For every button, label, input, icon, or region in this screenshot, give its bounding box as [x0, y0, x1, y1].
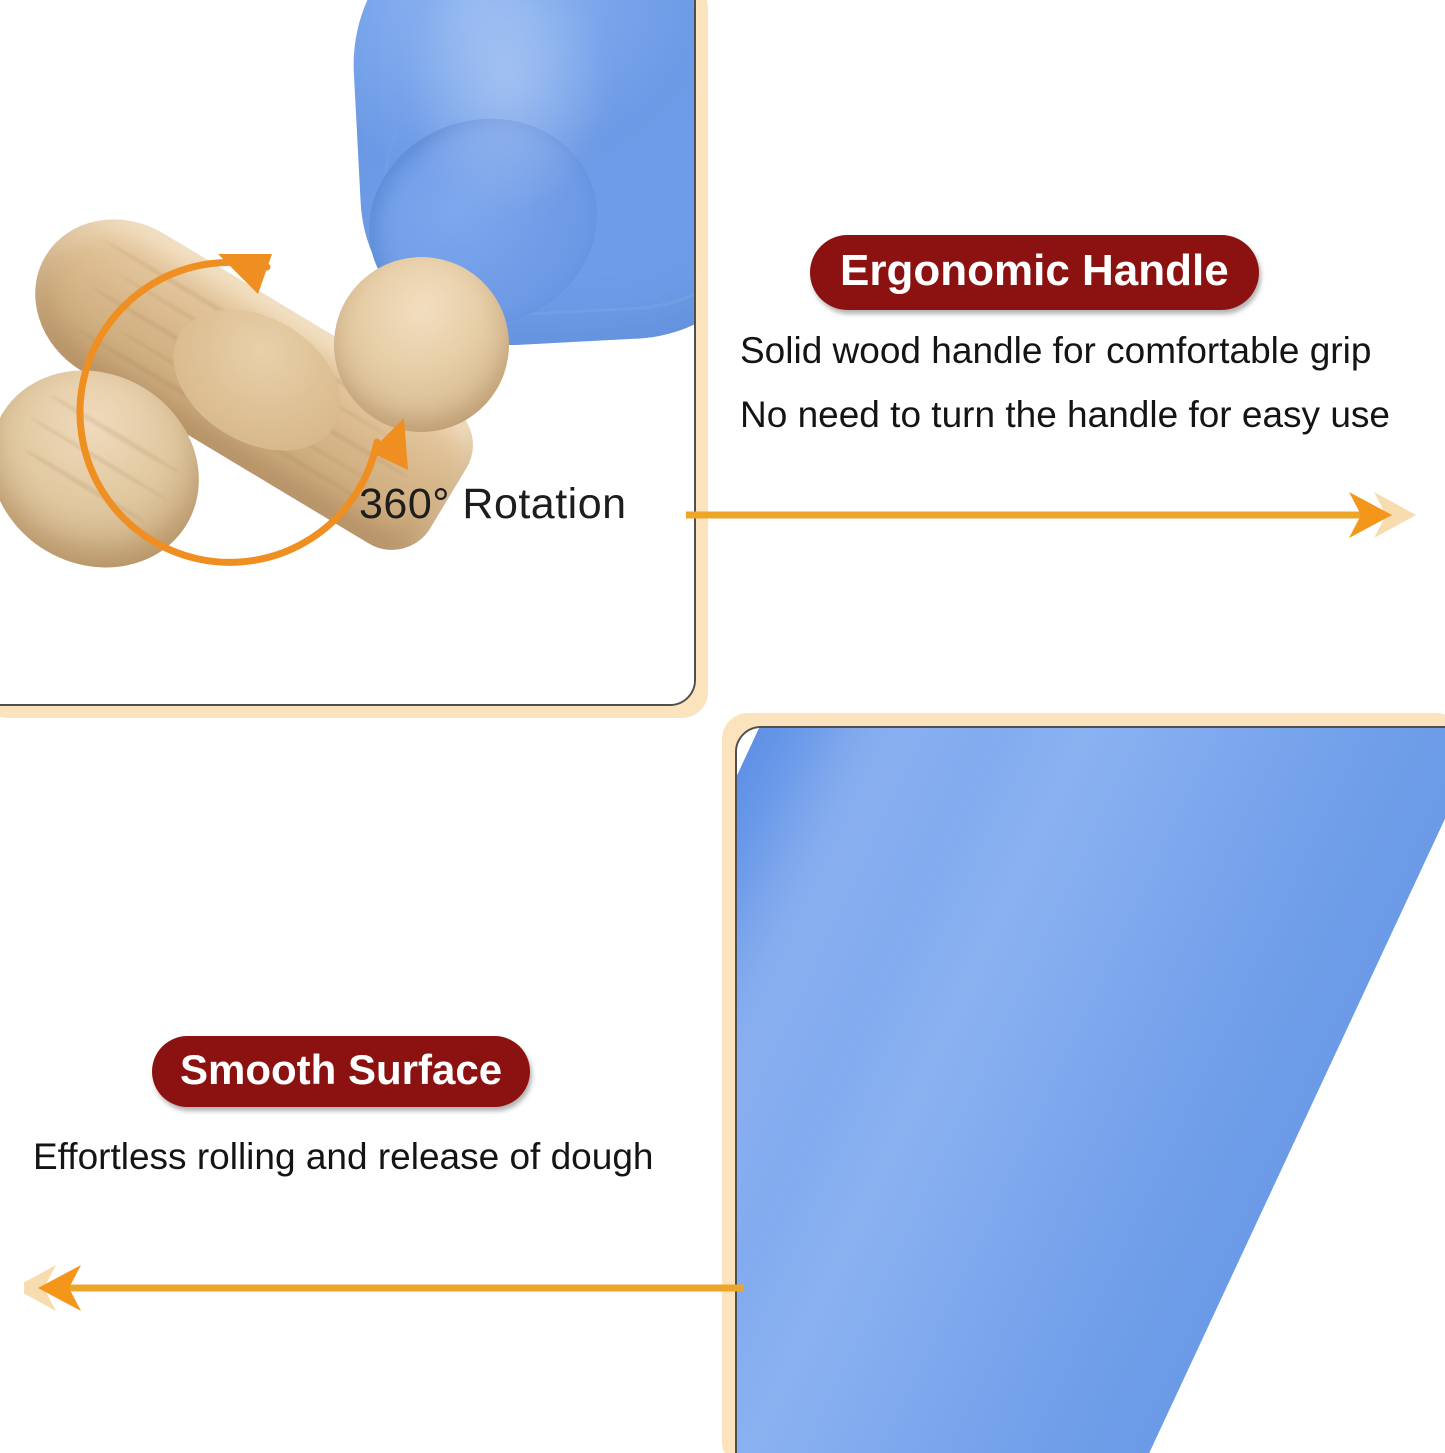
connector-arrow-right-icon [686, 480, 1416, 550]
infographic-canvas: 360° Rotation Ergonomic Handle Solid woo… [0, 0, 1445, 1453]
cylinder-sheen [737, 728, 1106, 1453]
ergonomic-handle-line-1: Solid wood handle for comfortable grip [740, 330, 1371, 372]
badge-smooth-surface: Smooth Surface [152, 1036, 530, 1107]
connector-arrow-left-icon [24, 1253, 744, 1323]
silicone-surface-photo [737, 728, 1445, 1453]
badge-ergonomic-handle: Ergonomic Handle [810, 235, 1259, 310]
wooden-handle [0, 122, 542, 622]
silicone-cylinder [737, 728, 1445, 1453]
rotation-label: 360° Rotation [359, 480, 627, 529]
ergonomic-handle-line-2: No need to turn the handle for easy use [740, 394, 1390, 436]
smooth-surface-photo-panel [735, 726, 1445, 1453]
ergonomic-handle-photo-panel: 360° Rotation [0, 0, 696, 706]
handle-photo: 360° Rotation [0, 0, 694, 704]
smooth-surface-line-1: Effortless rolling and release of dough [33, 1136, 654, 1178]
